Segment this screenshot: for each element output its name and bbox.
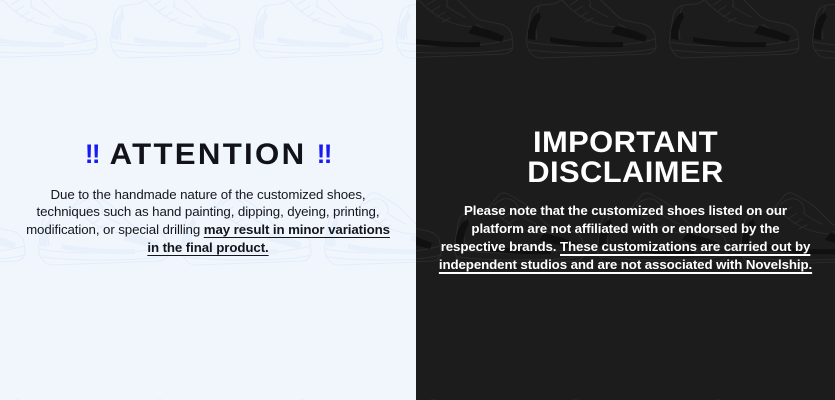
sneaker-icon: [246, 0, 389, 71]
sneaker-icon: [662, 393, 805, 400]
exclamation-icon-left: ‼: [85, 141, 100, 168]
attention-panel: ‼ATTENTION‼ Due to the handmade nature o…: [0, 0, 416, 400]
disclaimer-heading-line-2: DISCLAIMER: [432, 158, 818, 188]
disclaimer-banner: ‼ATTENTION‼ Due to the handmade nature o…: [0, 0, 835, 400]
disclaimer-content: IMPORTANT DISCLAIMER Please note that th…: [416, 128, 835, 273]
sneaker-icon: [103, 393, 246, 400]
sneaker-pattern-row: [416, 384, 835, 400]
attention-heading: ‼ATTENTION‼: [19, 140, 398, 170]
sneaker-icon: [662, 0, 805, 71]
sneaker-icon: [805, 0, 835, 71]
attention-body: Due to the handmade nature of the custom…: [26, 186, 390, 256]
disclaimer-heading: IMPORTANT DISCLAIMER: [432, 128, 818, 188]
sneaker-pattern-row: [416, 0, 835, 80]
sneaker-icon: [416, 393, 519, 400]
disclaimer-heading-line-1: IMPORTANT: [432, 128, 818, 158]
sneaker-icon: [519, 393, 662, 400]
sneaker-pattern-row: [0, 0, 416, 80]
sneaker-icon: [389, 393, 416, 400]
sneaker-icon: [389, 0, 416, 71]
sneaker-icon: [0, 0, 103, 71]
sneaker-icon: [0, 393, 103, 400]
sneaker-icon: [805, 393, 835, 400]
sneaker-icon: [246, 393, 389, 400]
disclaimer-body: Please note that the customized shoes li…: [438, 202, 813, 273]
disclaimer-panel: IMPORTANT DISCLAIMER Please note that th…: [416, 0, 835, 400]
attention-content: ‼ATTENTION‼ Due to the handmade nature o…: [0, 140, 416, 256]
sneaker-icon: [519, 0, 662, 71]
sneaker-pattern-row: [0, 384, 416, 400]
sneaker-icon: [416, 0, 519, 71]
exclamation-icon-right: ‼: [316, 141, 331, 168]
sneaker-icon: [103, 0, 246, 71]
attention-title: ATTENTION: [110, 140, 307, 170]
